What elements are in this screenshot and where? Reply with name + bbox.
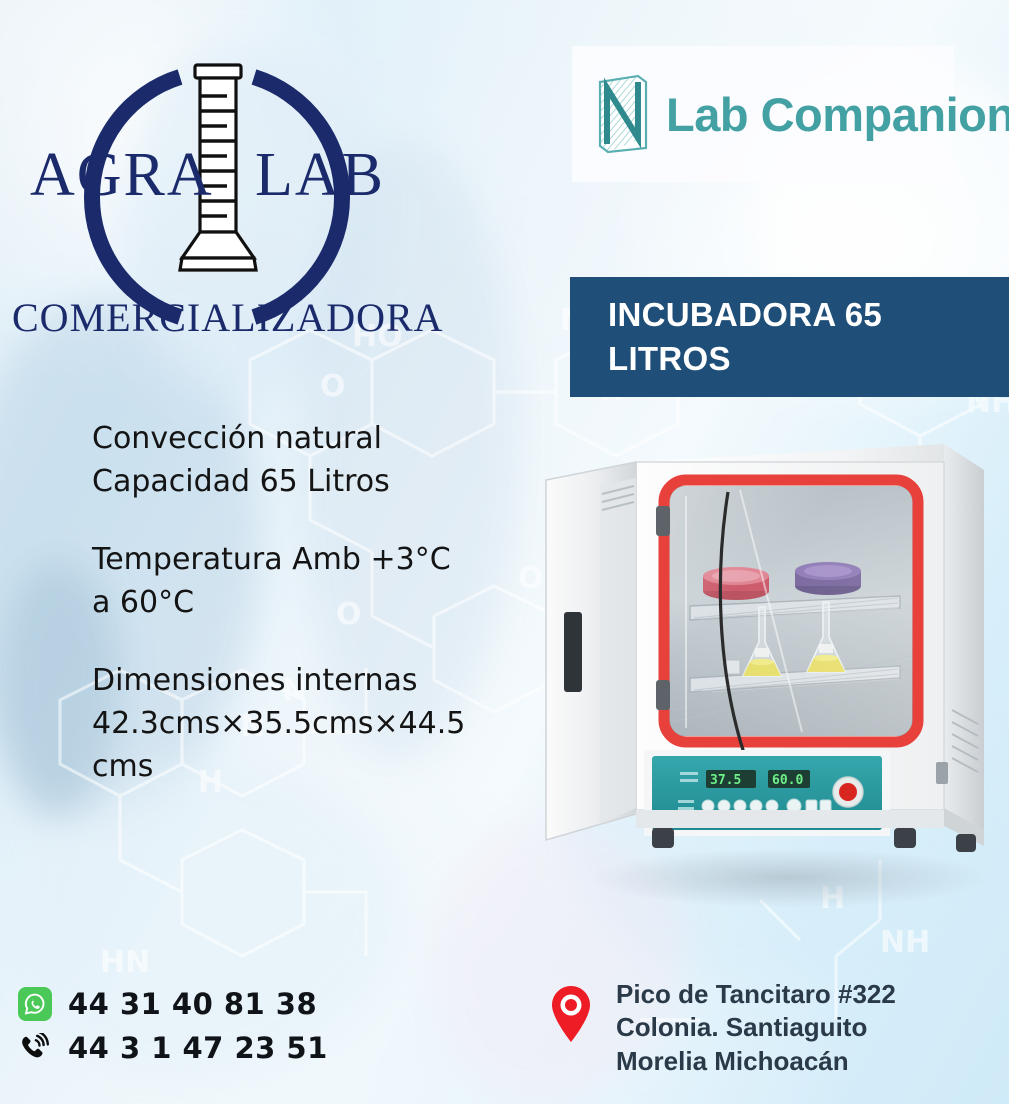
spec-line: 42.3cms×35.5cms×44.5 [92, 703, 522, 746]
foot [894, 828, 916, 848]
spec-group-convection: Convección natural Capacidad 65 Litros [92, 418, 522, 503]
spec-line: Dimensiones internas [92, 660, 522, 703]
logo-subtitle: COMERCIALIZADORA [12, 294, 422, 341]
foot [956, 834, 976, 852]
product-title: INCUBADORA 65 LITROS [570, 293, 902, 380]
location-pin-icon[interactable] [548, 984, 594, 1049]
foot [652, 828, 674, 848]
address-text: Pico de Tancitaro #322 Colonia. Santiagu… [616, 978, 896, 1078]
spec-line: Capacidad 65 Litros [92, 461, 522, 504]
product-title-line1: INCUBADORA 65 [608, 293, 882, 337]
brand-name-text: Lab Companion [666, 87, 1009, 142]
lab-companion-mark-icon [594, 72, 652, 156]
address-line-1: Pico de Tancitaro #322 [616, 978, 896, 1011]
whatsapp-number[interactable]: 44 31 40 81 38 [68, 987, 317, 1021]
logo-word-agra: AGRA [30, 140, 214, 211]
spec-line: Convección natural [92, 418, 522, 461]
contact-row-phone[interactable]: 44 3 1 47 23 51 [18, 1026, 348, 1070]
address-line-3: Morelia Michoacán [616, 1045, 896, 1078]
address-line-2: Colonia. Santiaguito [616, 1011, 896, 1044]
door-handle [564, 612, 582, 692]
spec-group-dimensions: Dimensiones internas 42.3cms×35.5cms×44.… [92, 660, 522, 788]
display-temp-value: 37.5 [710, 773, 741, 788]
whatsapp-icon[interactable] [18, 987, 52, 1021]
spec-group-temperature: Temperatura Amb +3°C a 60°C [92, 539, 522, 624]
specifications-list: Convección natural Capacidad 65 Litros T… [92, 418, 522, 788]
company-logo: AGRA LAB COMERCIALIZADORA [12, 22, 422, 362]
product-image-incubator: 37.5 60.0 [540, 410, 1009, 920]
contact-address: Pico de Tancitaro #322 Colonia. Santiagu… [548, 978, 896, 1078]
spec-line: Temperatura Amb +3°C [92, 539, 522, 582]
phone-number[interactable]: 44 3 1 47 23 51 [68, 1031, 328, 1065]
product-title-banner: INCUBADORA 65 LITROS [570, 277, 1009, 397]
spec-line: cms [92, 746, 522, 789]
spec-line: a 60°C [92, 582, 522, 625]
product-flyer: O HO N N O N O N N NH H H N HN NH H [0, 0, 1009, 1104]
phone-ring-icon[interactable] [18, 1031, 52, 1065]
outer-door-open [546, 462, 636, 840]
brand-lab-companion: Lab Companion [572, 46, 954, 182]
product-title-line2: LITROS [608, 337, 882, 381]
contact-row-whatsapp[interactable]: 44 31 40 81 38 [18, 982, 348, 1026]
logo-word-lab: LAB [255, 140, 385, 211]
contact-phones: 44 31 40 81 38 44 3 1 47 23 51 [18, 982, 348, 1070]
display-set-value: 60.0 [772, 773, 803, 788]
